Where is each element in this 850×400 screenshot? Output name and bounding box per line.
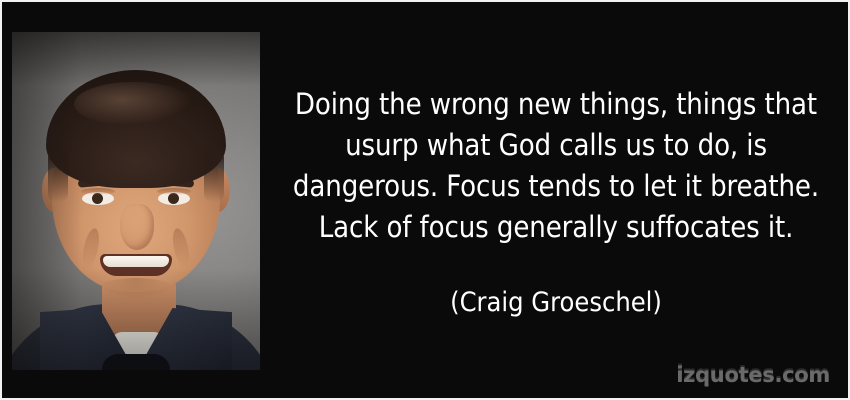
quote-body: Doing the wrong new things, things that …: [270, 84, 842, 248]
portrait-vignette: [12, 32, 260, 370]
quote-text-area: Doing the wrong new things, things that …: [270, 32, 842, 352]
site-watermark: izquotes.com: [676, 362, 830, 386]
quote-image-card: Doing the wrong new things, things that …: [0, 0, 850, 400]
portrait-photo: [12, 32, 260, 370]
quote-attribution: (Craig Groeschel): [270, 286, 842, 320]
